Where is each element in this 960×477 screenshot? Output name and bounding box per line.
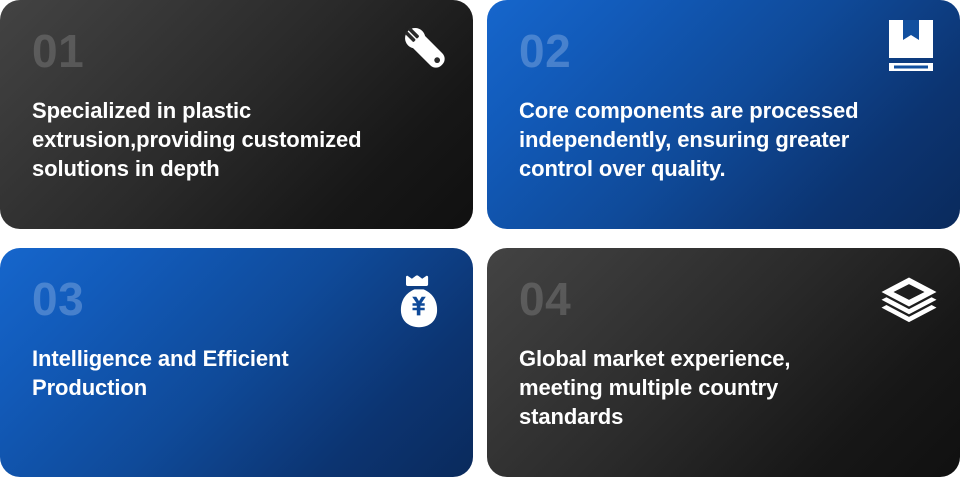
card-title-02: Core components are processed independen… — [519, 96, 934, 183]
card-number-04: 04 — [519, 276, 934, 322]
card-number-02: 02 — [519, 28, 934, 74]
card-number-03: 03 — [32, 276, 447, 322]
card-title-03: Intelligence and Efficient Production — [32, 344, 447, 402]
card-number-01: 01 — [32, 28, 447, 74]
wrench-icon — [399, 22, 451, 74]
card-title-01: Specialized in plastic extrusion,providi… — [32, 96, 447, 183]
feature-card-grid: 01 Specialized in plastic extrusion,prov… — [0, 0, 960, 459]
feature-card-02[interactable]: 02 Core components are processed indepen… — [487, 0, 960, 229]
feature-card-04[interactable]: 04 Global market experience, meeting mul… — [487, 248, 960, 477]
bookmark-book-icon — [886, 20, 936, 74]
money-bag-yen-icon — [393, 274, 445, 330]
feature-card-01[interactable]: 01 Specialized in plastic extrusion,prov… — [0, 0, 473, 229]
layers-stack-icon — [880, 276, 938, 328]
card-title-04: Global market experience, meeting multip… — [519, 344, 934, 431]
feature-card-03[interactable]: 03 Intelligence and Efficient Production — [0, 248, 473, 477]
